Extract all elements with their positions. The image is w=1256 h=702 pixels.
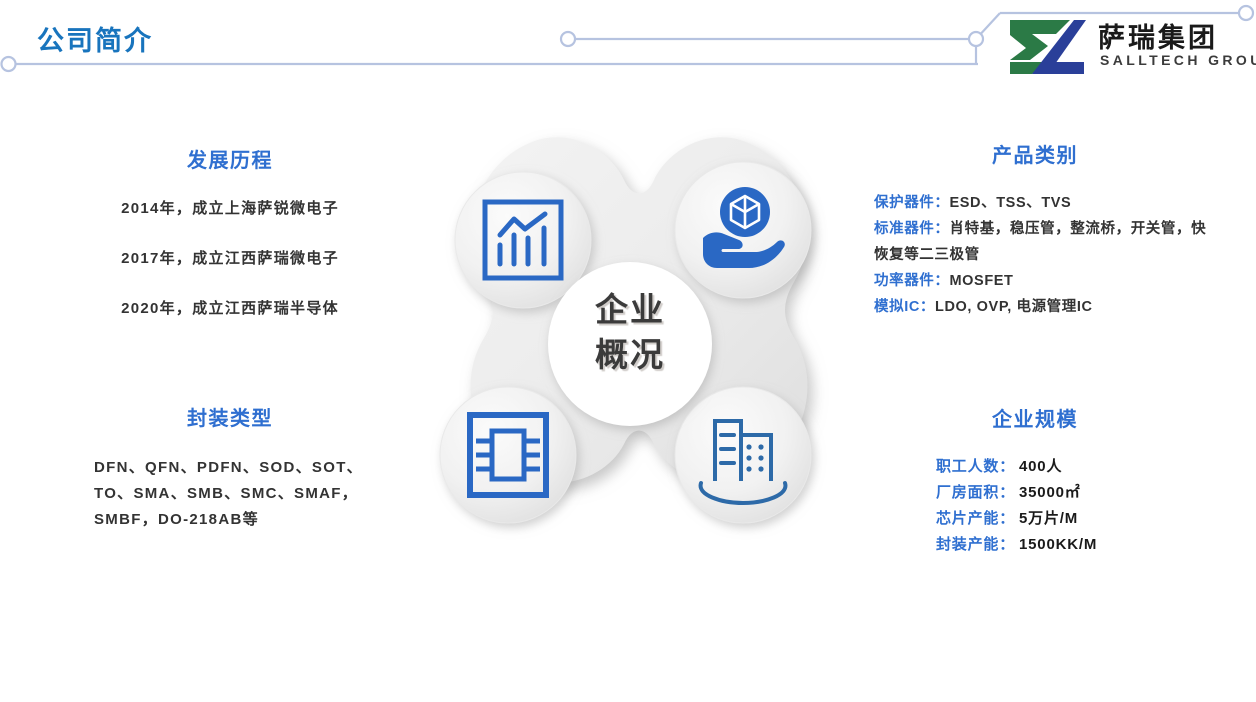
history-item: 2020年，成立江西萨瑞半导体 [70,297,390,318]
product-value: LDO, OVP, 电源管理IC [935,299,1093,315]
product-value: ESD、TSS、TVS [950,195,1072,211]
slide-root: 公司简介 萨瑞集团 SALLTECH GROUP 发展历程 2014年，成立上海… [0,0,1256,702]
salltech-logo-icon [1008,18,1086,76]
section-scale-heading: 企业规模 [860,403,1210,432]
scale-label: 芯片产能： [936,506,1015,532]
scale-value: 400人 [1019,454,1062,480]
page-header: 公司简介 萨瑞集团 SALLTECH GROUP [0,0,1256,96]
logo-chinese-name: 萨瑞集团 [1098,16,1218,55]
central-flower-shape [410,122,850,562]
history-item: 2017年，成立江西萨瑞微电子 [70,247,390,268]
central-diagram: 企业 概况 [410,122,850,562]
scale-label: 职工人数： [936,454,1015,480]
company-logo: 萨瑞集团 SALLTECH GROUP [1008,14,1244,78]
scale-row: 封装产能： 1500KK/M [860,532,1210,558]
node-top-right[interactable] [675,162,811,298]
section-company-scale: 企业规模 职工人数： 400人 厂房面积： 35000㎡ 芯片产能： 5万片/M… [860,403,1210,558]
scale-label: 厂房面积： [936,480,1015,506]
page-title: 公司简介 [37,19,153,58]
package-types-text: DFN、QFN、PDFN、SOD、SOT、TO、SMA、SMB、SMC、SMAF… [70,455,390,533]
deco-node-mid [561,32,575,46]
deco-node-junction [969,32,983,46]
section-product-heading: 产品类别 [860,139,1210,168]
logo-english-name: SALLTECH GROUP [1100,52,1256,68]
scale-row: 芯片产能： 5万片/M [860,506,1210,532]
scale-label: 封装产能： [936,532,1015,558]
scale-value: 35000㎡ [1019,480,1081,506]
scale-value: 1500KK/M [1019,532,1097,558]
section-history-heading: 发展历程 [70,144,390,173]
section-package-heading: 封装类型 [70,402,390,431]
product-label: 保护器件： [874,195,950,211]
section-package-types: 封装类型 DFN、QFN、PDFN、SOD、SOT、TO、SMA、SMB、SMC… [70,402,390,533]
scale-row: 职工人数： 400人 [860,454,1210,480]
product-label: 标准器件： [874,221,950,237]
product-value: MOSFET [950,273,1014,289]
node-bottom-right[interactable] [675,387,811,523]
section-product-categories: 产品类别 保护器件：ESD、TSS、TVS 标准器件：肖特基，稳压管，整流桥，开… [860,139,1210,320]
scale-value: 5万片/M [1019,506,1078,532]
center-circle [548,262,712,426]
product-label: 功率器件： [874,273,950,289]
deco-node-left [2,57,16,71]
scale-row: 厂房面积： 35000㎡ [860,480,1210,506]
history-item: 2014年，成立上海萨锐微电子 [70,197,390,218]
product-categories-list: 保护器件：ESD、TSS、TVS 标准器件：肖特基，稳压管，整流桥，开关管，快恢… [860,190,1210,320]
product-label: 模拟IC： [874,299,935,315]
node-bottom-left[interactable] [440,387,576,523]
section-history: 发展历程 2014年，成立上海萨锐微电子 2017年，成立江西萨瑞微电子 202… [70,144,390,347]
